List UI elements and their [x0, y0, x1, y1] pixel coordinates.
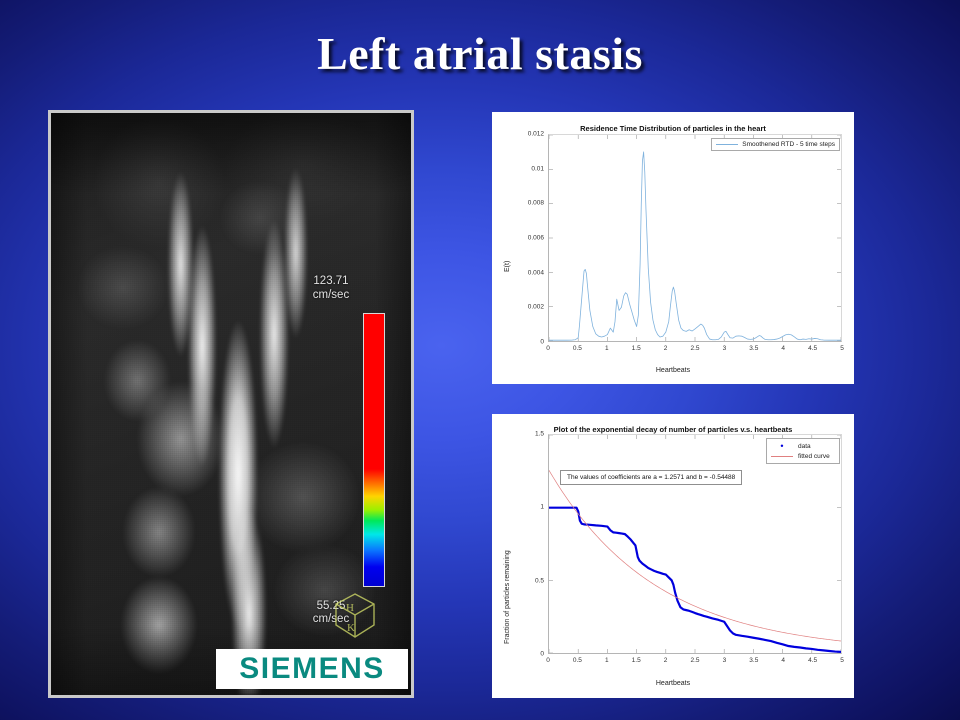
y-tick-label: 0.012 [528, 131, 544, 138]
rtd-x-axis-label: Heartbeats [492, 367, 854, 374]
x-tick-label: 2.5 [690, 345, 699, 352]
siemens-wordmark: SIEMENS [239, 652, 385, 686]
x-tick-label: 3 [723, 657, 727, 664]
rtd-chart-title: Residence Time Distribution of particles… [492, 124, 854, 133]
x-tick-label: 0 [546, 345, 550, 352]
x-tick-label: 4 [781, 657, 785, 664]
hk-cube-watermark-icon: H K [333, 591, 377, 641]
decay-legend-label-fit: fitted curve [798, 453, 830, 460]
x-tick-label: 1 [605, 657, 609, 664]
x-tick-label: 0.5 [573, 657, 582, 664]
rtd-legend[interactable]: Smoothened RTD - 5 time steps [711, 138, 840, 151]
y-tick-label: 0.5 [535, 577, 544, 584]
data-dot-marker-icon: • [771, 442, 793, 451]
decay-legend[interactable]: • data fitted curve [766, 438, 840, 464]
rtd-plot-svg [549, 135, 841, 341]
x-tick-label: 2 [664, 657, 668, 664]
svg-text:H: H [346, 602, 354, 614]
y-tick-label: 0.01 [531, 165, 544, 172]
decay-legend-row-fit: fitted curve [771, 451, 835, 461]
y-tick-label: 0.002 [528, 304, 544, 311]
x-tick-label: 1.5 [632, 657, 641, 664]
decay-legend-row-data: • data [771, 441, 835, 451]
x-tick-label: 3 [723, 345, 727, 352]
x-tick-label: 1 [605, 345, 609, 352]
x-tick-label: 2 [664, 345, 668, 352]
colorbar-max-label: 123.71 cm/sec [293, 275, 369, 302]
y-tick-label: 1 [540, 504, 544, 511]
rtd-y-axis-label: E(t) [504, 261, 511, 272]
x-tick-label: 5 [840, 345, 844, 352]
velocity-colorbar: 123.71 cm/sec 55.25 cm/sec [313, 281, 399, 621]
rtd-legend-line-swatch [716, 144, 738, 145]
y-tick-label: 0.004 [528, 269, 544, 276]
x-tick-label: 4.5 [808, 345, 817, 352]
rtd-chart-panel: Residence Time Distribution of particles… [492, 112, 854, 384]
decay-plot-svg [549, 435, 841, 653]
fitted-curve-line-icon [771, 456, 793, 457]
x-tick-label: 4.5 [808, 657, 817, 664]
coefficients-annotation: The values of coefficients are a = 1.257… [560, 470, 742, 485]
y-tick-label: 1.5 [535, 431, 544, 438]
x-tick-label: 3.5 [749, 345, 758, 352]
svg-text:K: K [347, 622, 355, 634]
mri-velocity-map: 123.71 cm/sec 55.25 cm/sec H K SIEMENS [48, 110, 414, 698]
decay-y-axis-label: Fraction of particles remaining [504, 550, 511, 644]
y-tick-label: 0 [540, 651, 544, 658]
x-tick-label: 1.5 [632, 345, 641, 352]
x-tick-label: 3.5 [749, 657, 758, 664]
decay-plot-area [548, 434, 842, 654]
rtd-legend-label: Smoothened RTD - 5 time steps [742, 141, 835, 148]
y-tick-label: 0.008 [528, 200, 544, 207]
y-tick-label: 0.006 [528, 235, 544, 242]
x-tick-label: 5 [840, 657, 844, 664]
rtd-plot-area [548, 134, 842, 342]
colorbar-gradient [363, 313, 385, 587]
decay-chart-title: Plot of the exponential decay of number … [492, 425, 854, 434]
page-title: Left atrial stasis [60, 30, 900, 78]
decay-legend-label-data: data [798, 443, 811, 450]
siemens-logo: SIEMENS [216, 649, 408, 689]
x-tick-label: 2.5 [690, 657, 699, 664]
decay-chart-panel: Plot of the exponential decay of number … [492, 414, 854, 698]
x-tick-label: 0 [546, 657, 550, 664]
x-tick-label: 0.5 [573, 345, 582, 352]
y-tick-label: 0 [540, 339, 544, 346]
x-tick-label: 4 [781, 345, 785, 352]
decay-x-axis-label: Heartbeats [492, 680, 854, 687]
slide-canvas: Left atrial stasis 123.71 cm/sec 55.25 c… [0, 0, 960, 720]
